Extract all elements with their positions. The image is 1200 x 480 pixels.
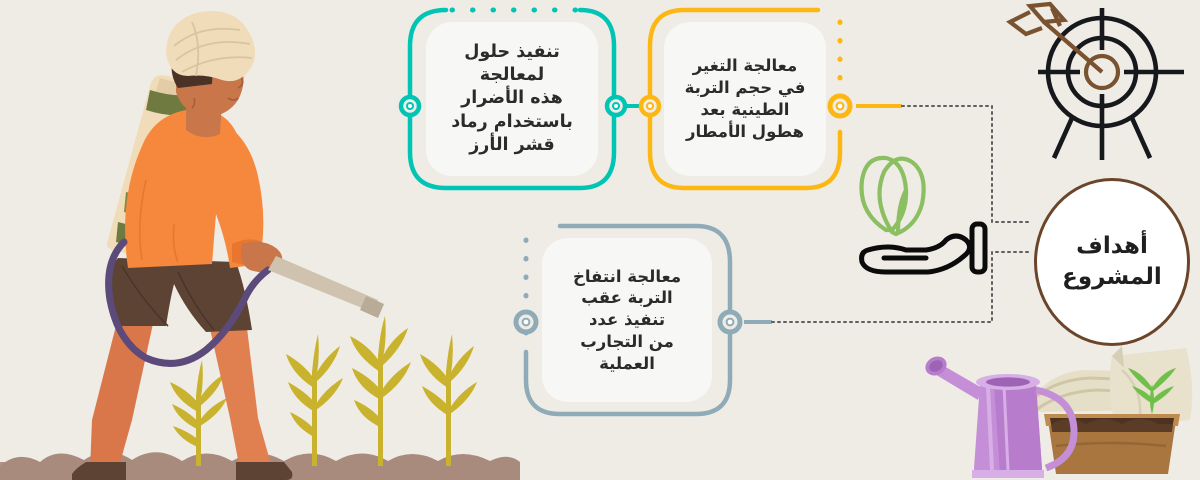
goal-card-1-text: تنفيذ حلول لمعالجة هذه الأضرار باستخدام … xyxy=(445,41,579,156)
goal-card-3[interactable]: معالجة انتفاخ التربة عقب تنفيذ عدد من ال… xyxy=(524,224,730,416)
goal-card-3-text: معالجة انتفاخ التربة عقب تنفيذ عدد من ال… xyxy=(567,266,687,375)
goal-card-1[interactable]: تنفيذ حلول لمعالجة هذه الأضرار باستخدام … xyxy=(408,8,616,190)
project-goals-label: أهداف المشروع xyxy=(1062,231,1162,293)
planter-box-icon xyxy=(1044,414,1180,474)
project-goals-circle[interactable]: أهداف المشروع xyxy=(1034,178,1190,346)
goal-card-3-body: معالجة انتفاخ التربة عقب تنفيذ عدد من ال… xyxy=(542,238,712,402)
goal-card-2-text: معالجة التغير في حجم التربة الطينية بعد … xyxy=(679,55,812,142)
infographic-canvas: تنفيذ حلول لمعالجة هذه الأضرار باستخدام … xyxy=(0,0,1200,480)
goal-card-1-body: تنفيذ حلول لمعالجة هذه الأضرار باستخدام … xyxy=(426,22,598,176)
goal-card-2-body: معالجة التغير في حجم التربة الطينية بعد … xyxy=(664,22,826,176)
goal-card-2[interactable]: معالجة التغير في حجم التربة الطينية بعد … xyxy=(648,8,842,190)
